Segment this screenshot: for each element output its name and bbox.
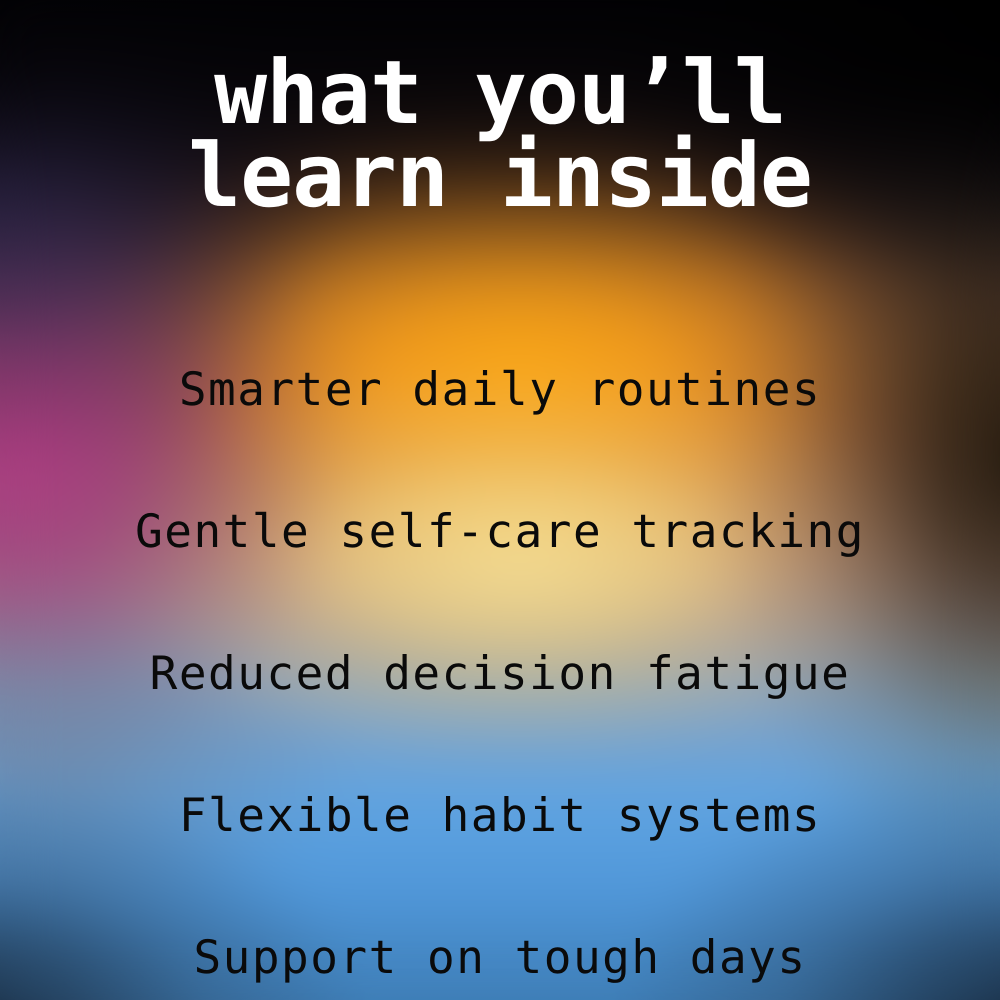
headline-line-1: what you’ll — [0, 52, 1000, 135]
list-item: Gentle self-care tracking — [0, 460, 1000, 602]
poster-content: what you’ll learn inside Smarter daily r… — [0, 0, 1000, 1000]
list-item: Flexible habit systems — [0, 744, 1000, 886]
list-item: Smarter daily routines — [0, 318, 1000, 460]
list-item: Reduced decision fatigue — [0, 602, 1000, 744]
page-title: what you’ll learn inside — [0, 52, 1000, 217]
list-item: Support on tough days — [0, 886, 1000, 1000]
benefit-list: Smarter daily routines Gentle self-care … — [0, 318, 1000, 1000]
headline-line-2: learn inside — [0, 135, 1000, 218]
poster-canvas: what you’ll learn inside Smarter daily r… — [0, 0, 1000, 1000]
